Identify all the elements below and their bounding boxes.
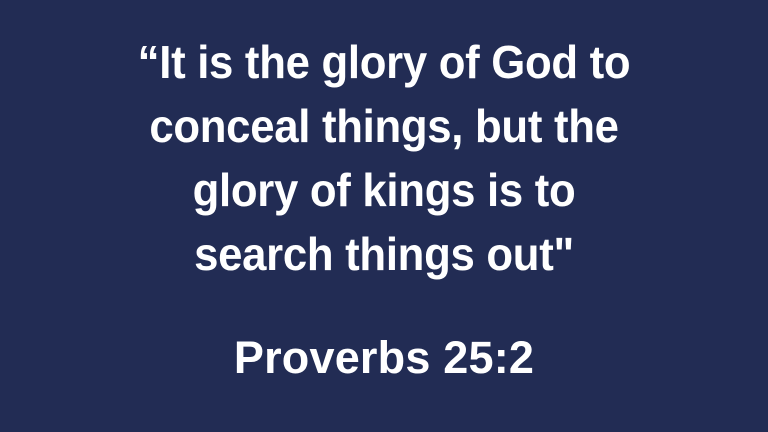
- attribution-reference: Proverbs 25:2: [0, 332, 768, 384]
- quote-line-3: glory of kings is to: [19, 158, 749, 222]
- quote-line-2: conceal things, but the: [19, 94, 749, 158]
- scripture-quote: “It is the glory of God to conceal thing…: [0, 0, 768, 286]
- quote-line-4: search things out": [19, 222, 749, 286]
- scripture-attribution: Proverbs 25:2: [0, 332, 768, 384]
- quote-line-1: “It is the glory of God to: [19, 30, 749, 94]
- quote-slide: “It is the glory of God to conceal thing…: [0, 0, 768, 432]
